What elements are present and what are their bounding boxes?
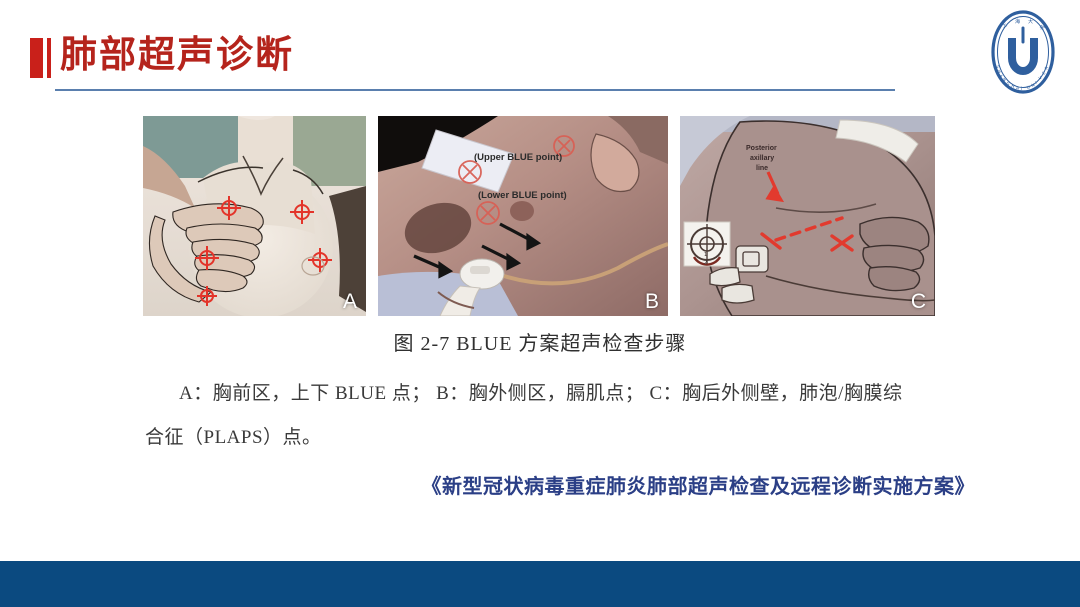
figure-panel-c: Posterior axillary line [680, 116, 935, 316]
accent-bar-wide [30, 38, 43, 78]
svg-text:A: A [1016, 85, 1020, 90]
accent-bar-thin [47, 38, 51, 78]
svg-text:(Lower BLUE point): (Lower BLUE point) [478, 190, 567, 201]
panel-letter-c: C [911, 290, 926, 314]
source-citation: 《新型冠状病毒重症肺炎肺部超声检查及远程诊断实施方案》 [422, 470, 976, 499]
figure-panel-b: (Upper BLUE point) (Lower BLUE point) [378, 116, 668, 316]
legend-line-2: 合征（PLAPS）点。 [145, 416, 945, 460]
page-title: 肺部超声诊断 [60, 32, 294, 78]
svg-text:line: line [756, 165, 768, 172]
panel-letter-a: A [343, 290, 357, 314]
svg-text:2: 2 [704, 260, 707, 266]
shanghai-university-logo: 上 海 大 学 S H A N G H A I U N I V [984, 8, 1062, 96]
svg-text:I: I [1021, 86, 1023, 91]
svg-text:海: 海 [1015, 18, 1020, 25]
footer-bar [0, 561, 1080, 607]
svg-text:E: E [1041, 70, 1047, 76]
figure-caption: 图 2-7 BLUE 方案超声检查步骤 [0, 327, 1080, 356]
title-underline-rule [55, 89, 895, 91]
legend-line-1: A：胸前区，上下 BLUE 点； B：胸外侧区，膈肌点； C：胸后外侧壁，肺泡/… [145, 372, 945, 416]
slide-root: 肺部超声诊断 上 海 大 学 S H A N [0, 0, 1080, 607]
title-accent-bars [30, 38, 51, 78]
figure-panel-row: A [143, 116, 935, 316]
figure-legend-text: A：胸前区，上下 BLUE 点； B：胸外侧区，膈肌点； C：胸后外侧壁，肺泡/… [145, 372, 945, 460]
svg-text:axillary: axillary [750, 155, 774, 162]
svg-text:1: 1 [704, 252, 707, 258]
svg-text:(Upper BLUE point): (Upper BLUE point) [474, 152, 562, 163]
svg-text:Posterior: Posterior [746, 145, 777, 152]
svg-text:大: 大 [1028, 18, 1033, 25]
svg-text:H: H [1011, 83, 1016, 89]
svg-text:U: U [1026, 84, 1030, 90]
slide-header: 肺部超声诊断 上 海 大 学 S H A N [0, 0, 1080, 105]
panel-letter-b: B [645, 290, 659, 314]
figure-panel-a: A [143, 116, 366, 316]
